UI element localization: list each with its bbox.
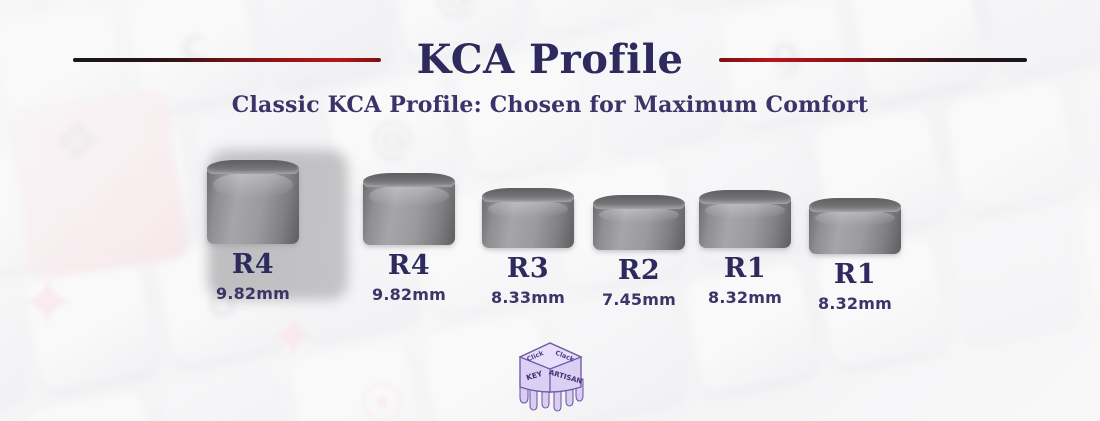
- profile-height-label: 7.45mm: [584, 290, 694, 309]
- keycap-top-surface: [482, 188, 574, 202]
- keycap-graphic: [699, 190, 791, 248]
- profile-item-r4-b: R4 9.82mm: [354, 173, 464, 304]
- keycap-body: [809, 206, 901, 254]
- profile-height-label: 8.32mm: [690, 288, 800, 307]
- keycap-top-surface: [207, 160, 299, 174]
- profile-height-label: 8.33mm: [473, 288, 583, 307]
- brand-logo: Click Clack KEY ARTISAN: [508, 333, 592, 415]
- kca-profile-banner: # o ơ 8 m c @ ь: [0, 0, 1100, 421]
- title-row: KCA Profile: [0, 40, 1100, 80]
- keycap-body: [363, 181, 455, 245]
- keycap-profile-row: R4 9.82mm R4 9.82mm R3 8.33mm: [198, 160, 928, 320]
- keycap-graphic: [207, 160, 299, 244]
- keycap-graphic: [482, 188, 574, 248]
- profile-height-label: 8.32mm: [800, 294, 910, 313]
- profile-item-r2: R2 7.45mm: [584, 195, 694, 309]
- profile-item-r1-b: R1 8.32mm: [800, 198, 910, 313]
- banner-content: KCA Profile Classic KCA Profile: Chosen …: [0, 0, 1100, 421]
- keycap-body: [207, 168, 299, 244]
- page-title: KCA Profile: [417, 40, 684, 80]
- page-subtitle: Classic KCA Profile: Chosen for Maximum …: [0, 92, 1100, 118]
- melting-keycap-icon: Click Clack KEY ARTISAN: [508, 333, 592, 415]
- profile-row-label: R2: [584, 256, 694, 286]
- keycap-graphic: [809, 198, 901, 254]
- profile-item-r4-a: R4 9.82mm: [198, 160, 308, 303]
- keycap-body: [699, 198, 791, 248]
- profile-item-r3: R3 8.33mm: [473, 188, 583, 307]
- keycap-top-surface: [363, 173, 455, 187]
- profile-row-label: R3: [473, 254, 583, 284]
- keycap-top-surface: [809, 198, 901, 212]
- profile-item-r1-a: R1 8.32mm: [690, 190, 800, 307]
- keycap-graphic: [363, 173, 455, 245]
- keycap-body: [482, 196, 574, 248]
- profile-row-label: R4: [354, 251, 464, 281]
- profile-row-label: R1: [690, 254, 800, 284]
- keycap-graphic: [593, 195, 685, 250]
- title-rule-left: [73, 58, 381, 62]
- keycap-body: [593, 203, 685, 250]
- keycap-top-surface: [593, 195, 685, 209]
- profile-row-label: R4: [198, 250, 308, 280]
- profile-height-label: 9.82mm: [198, 284, 308, 303]
- profile-height-label: 9.82mm: [354, 285, 464, 304]
- keycap-top-surface: [699, 190, 791, 204]
- title-rule-right: [719, 58, 1027, 62]
- profile-row-label: R1: [800, 260, 910, 290]
